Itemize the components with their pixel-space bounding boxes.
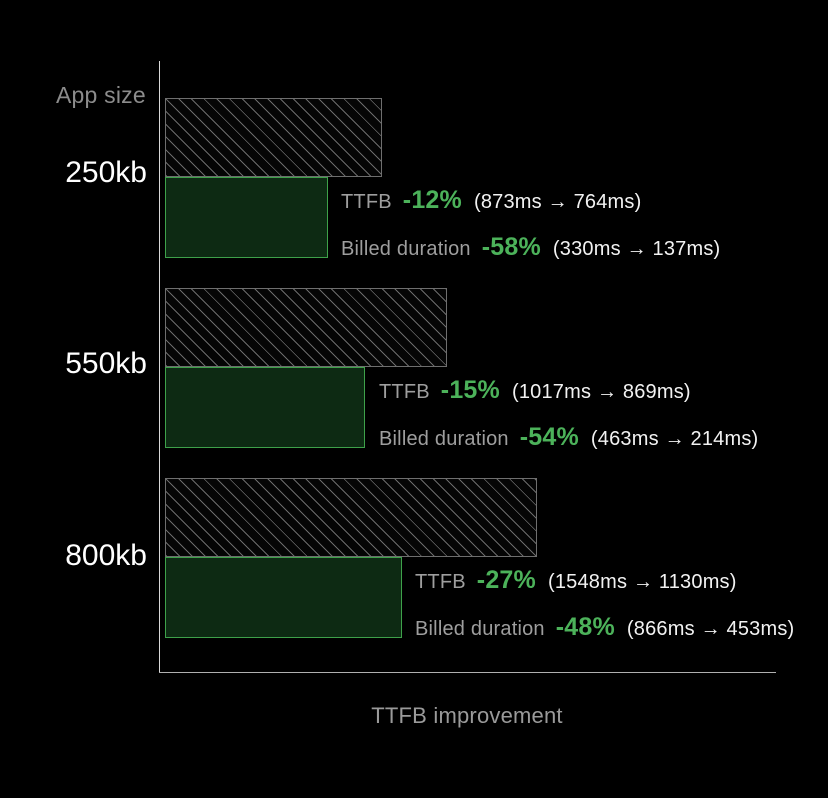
metric-percent: -48% xyxy=(556,613,615,642)
bar-after-800kb xyxy=(165,557,402,638)
category-label: 800kb xyxy=(65,539,147,573)
metric-percent: -12% xyxy=(403,186,462,215)
metric-label: Billed duration xyxy=(341,238,471,261)
metric-row: TTFB -12% (873ms → 764ms) xyxy=(341,186,720,215)
metrics-group-800kb: TTFB -27% (1548ms → 1130ms) Billed durat… xyxy=(415,566,794,642)
category-label: 250kb xyxy=(65,156,147,190)
metrics-group-550kb: TTFB -15% (1017ms → 869ms) Billed durati… xyxy=(379,376,758,452)
metric-label: TTFB xyxy=(415,571,466,594)
metric-row: Billed duration -54% (463ms → 214ms) xyxy=(379,423,758,452)
metric-percent: -15% xyxy=(441,376,500,405)
x-axis-line xyxy=(159,672,776,673)
metrics-group-250kb: TTFB -12% (873ms → 764ms) Billed duratio… xyxy=(341,186,720,262)
metric-delta: (330ms → 137ms) xyxy=(553,238,721,261)
metric-percent: -54% xyxy=(520,423,579,452)
metric-delta: (1548ms → 1130ms) xyxy=(548,571,737,594)
metric-row: TTFB -15% (1017ms → 869ms) xyxy=(379,376,758,405)
y-axis-line xyxy=(159,61,160,673)
metric-label: Billed duration xyxy=(379,428,509,451)
metric-label: TTFB xyxy=(379,381,430,404)
bar-after-550kb xyxy=(165,367,365,448)
bar-before-550kb xyxy=(165,288,447,367)
metric-delta: (463ms → 214ms) xyxy=(591,428,759,451)
metric-delta: (1017ms → 869ms) xyxy=(512,381,691,404)
bar-after-250kb xyxy=(165,177,328,258)
metric-label: TTFB xyxy=(341,191,392,214)
metric-percent: -58% xyxy=(482,233,541,262)
category-label: 550kb xyxy=(65,347,147,381)
x-axis-title-container: TTFB improvement xyxy=(0,703,828,729)
metric-row: Billed duration -58% (330ms → 137ms) xyxy=(341,233,720,262)
metric-label: Billed duration xyxy=(415,618,545,641)
chart-container: App size 250kb TTFB -12% (873ms → 764ms)… xyxy=(0,0,828,798)
metric-delta: (873ms → 764ms) xyxy=(474,191,642,214)
metric-row: TTFB -27% (1548ms → 1130ms) xyxy=(415,566,794,595)
metric-percent: -27% xyxy=(477,566,536,595)
metric-delta: (866ms → 453ms) xyxy=(627,618,795,641)
x-axis-title: TTFB improvement xyxy=(371,703,562,729)
bar-before-250kb xyxy=(165,98,382,177)
metric-row: Billed duration -48% (866ms → 453ms) xyxy=(415,613,794,642)
y-axis-title: App size xyxy=(56,82,146,109)
bar-before-800kb xyxy=(165,478,537,557)
